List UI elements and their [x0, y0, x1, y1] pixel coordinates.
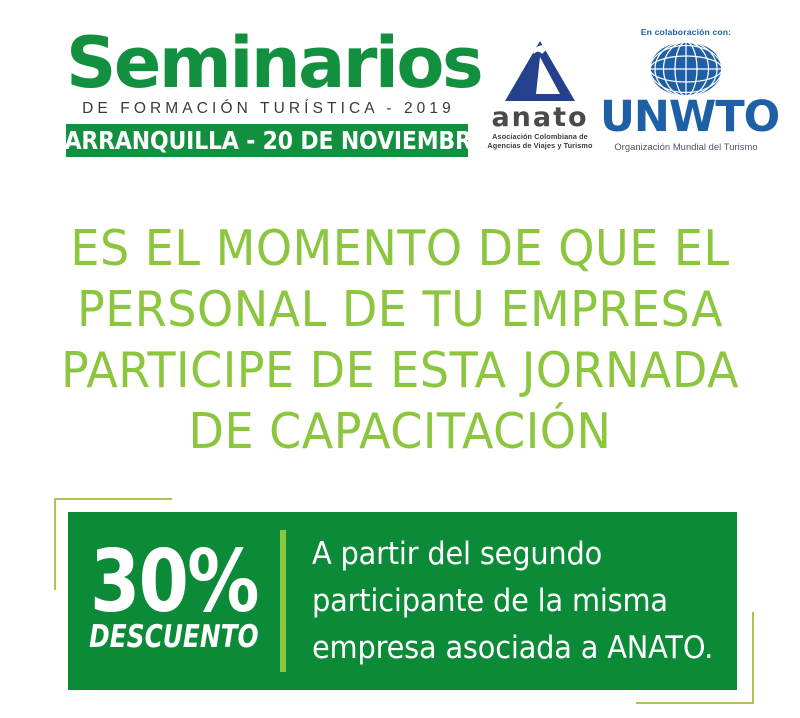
- globe-icon: [649, 41, 723, 97]
- header-logos: Seminarios DE FORMACIÓN TURÍSTICA - 2019…: [0, 0, 800, 185]
- headline-line-3: PARTICIPE DE ESTA JORNADA: [24, 340, 776, 401]
- headline-line-4: DE CAPACITACIÓN: [24, 401, 776, 462]
- discount-label: DESCUENTO: [89, 622, 258, 653]
- anato-tagline-line-1: Asociación Colombiana de: [484, 132, 596, 141]
- anato-tagline-line-2: Agencias de Viajes y Turismo: [484, 141, 596, 150]
- discount-box: 30% DESCUENTO A partir del segundo parti…: [68, 512, 737, 690]
- event-date-text: BARRANQUILLA - 20 DE NOVIEMBRE: [48, 126, 487, 155]
- discount-description-line-3: empresa asociada a ANATO.: [312, 625, 713, 672]
- discount-description-line-2: participante de la misma: [312, 578, 713, 625]
- promotional-poster: Seminarios DE FORMACIÓN TURÍSTICA - 2019…: [0, 0, 800, 718]
- seminarios-wordmark: Seminarios: [66, 30, 468, 97]
- headline: ES EL MOMENTO DE QUE EL PERSONAL DE TU E…: [0, 218, 800, 462]
- discount-percent: 30%: [90, 545, 258, 620]
- unwto-wordmark: UNWTO: [600, 96, 772, 139]
- unwto-tagline: Organización Mundial del Turismo: [600, 141, 772, 152]
- discount-description: A partir del segundo participante de la …: [286, 512, 751, 690]
- discount-amount-group: 30% DESCUENTO: [68, 512, 280, 690]
- anato-wordmark: anato: [484, 104, 596, 131]
- unwto-logo: En colaboración con: UNWTO Organ: [600, 27, 772, 152]
- discount-description-line-1: A partir del segundo: [312, 531, 713, 578]
- event-date-bar: BARRANQUILLA - 20 DE NOVIEMBRE: [66, 124, 468, 157]
- anato-tagline: Asociación Colombiana de Agencias de Via…: [484, 132, 596, 151]
- anato-logo: anato Asociación Colombiana de Agencias …: [484, 40, 596, 151]
- headline-line-2: PERSONAL DE TU EMPRESA: [24, 279, 776, 340]
- seminarios-event-logo: Seminarios DE FORMACIÓN TURÍSTICA - 2019…: [66, 30, 468, 157]
- seminarios-subtitle: DE FORMACIÓN TURÍSTICA - 2019: [66, 100, 468, 118]
- anato-triangle-icon: [503, 40, 577, 102]
- headline-line-1: ES EL MOMENTO DE QUE EL: [24, 218, 776, 279]
- collaboration-label: En colaboración con:: [600, 27, 772, 37]
- discount-banner: 30% DESCUENTO A partir del segundo parti…: [54, 498, 754, 704]
